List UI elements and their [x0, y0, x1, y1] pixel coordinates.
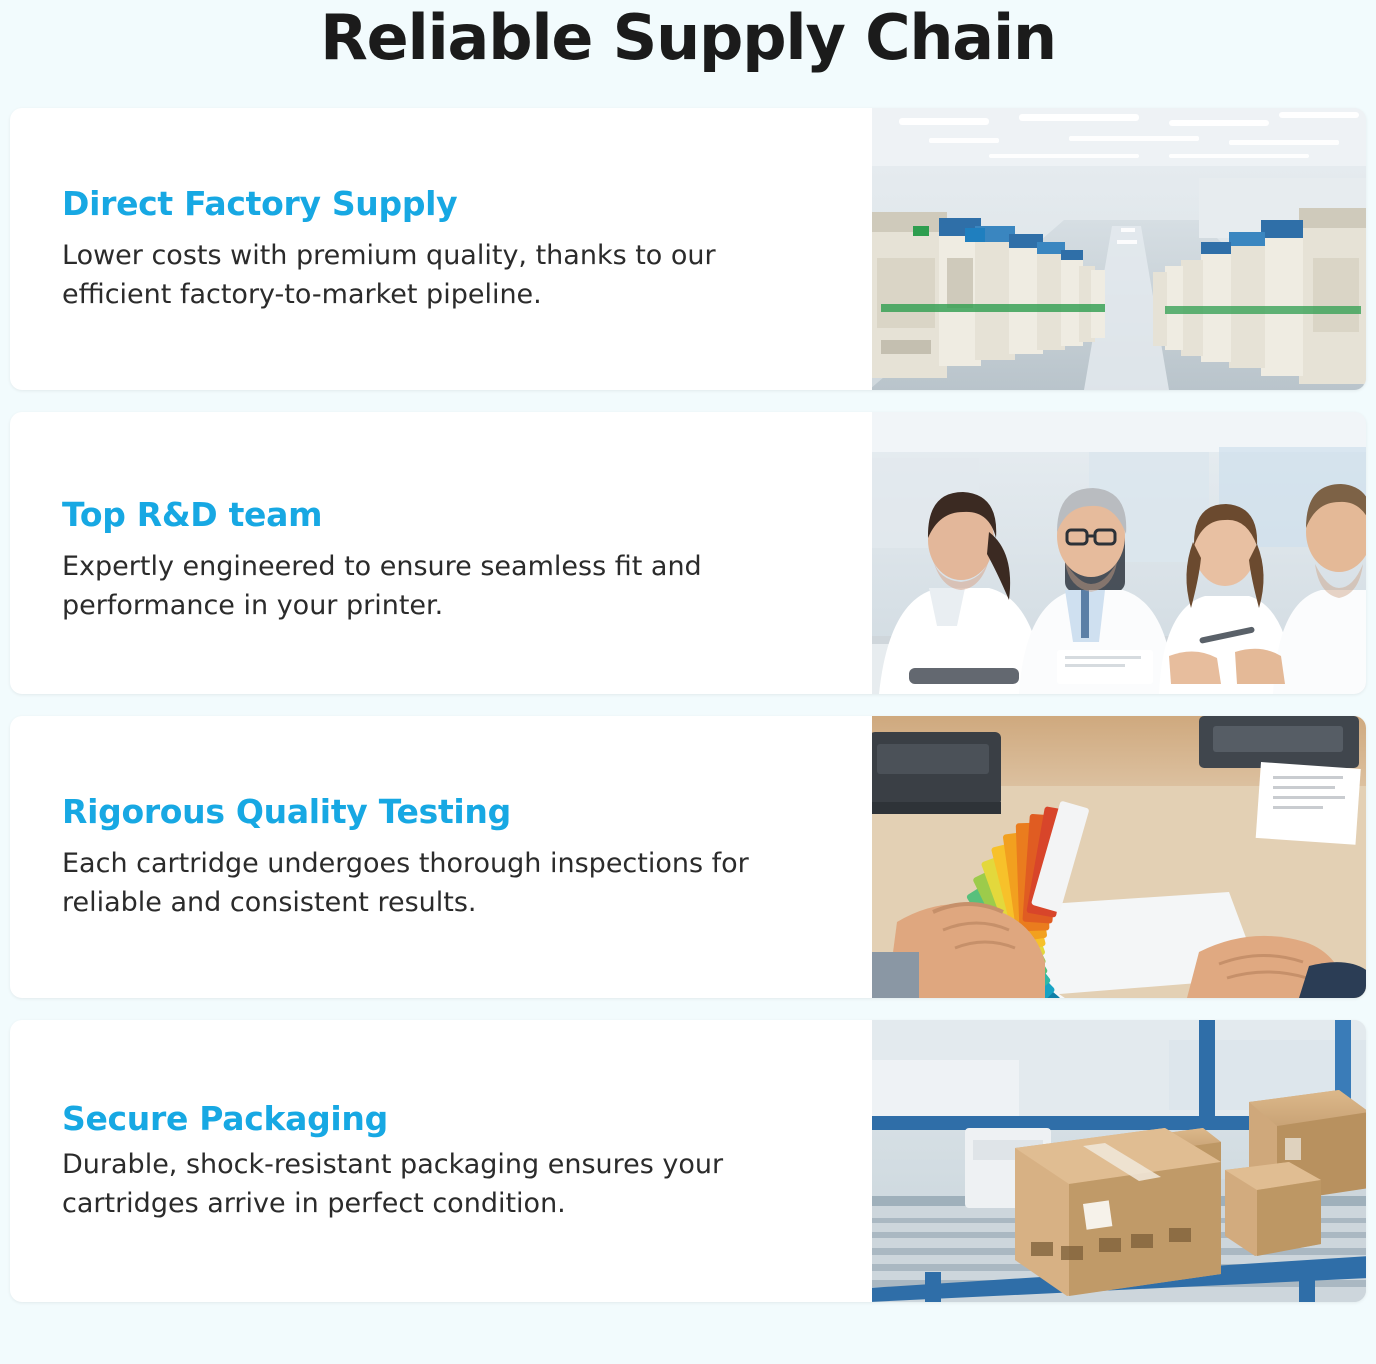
color-swatch-fan-inspection-photo	[872, 716, 1366, 998]
feature-card: Top R&D team Expertly engineered to ensu…	[10, 412, 1366, 694]
feature-card-text: Secure Packaging Durable, shock-resistan…	[10, 1020, 872, 1302]
feature-card-text: Top R&D team Expertly engineered to ensu…	[10, 412, 872, 694]
feature-card-description: Durable, shock-resistant packaging ensur…	[62, 1146, 802, 1223]
feature-card: Direct Factory Supply Lower costs with p…	[10, 108, 1366, 390]
feature-card-description: Lower costs with premium quality, thanks…	[62, 237, 802, 314]
feature-card-title: Rigorous Quality Testing	[62, 792, 820, 831]
feature-card: Rigorous Quality Testing Each cartridge …	[10, 716, 1366, 998]
cardboard-boxes-on-conveyor-photo	[872, 1020, 1366, 1302]
feature-card-description: Expertly engineered to ensure seamless f…	[62, 548, 802, 625]
page-title: Reliable Supply Chain	[0, 0, 1376, 72]
feature-card-title: Direct Factory Supply	[62, 184, 820, 223]
factory-production-line-photo	[872, 108, 1366, 390]
feature-card-title: Secure Packaging	[62, 1099, 820, 1138]
feature-card-text: Direct Factory Supply Lower costs with p…	[10, 108, 872, 390]
research-team-in-lab-coats-photo	[872, 412, 1366, 694]
feature-card-list: Direct Factory Supply Lower costs with p…	[0, 108, 1376, 1302]
feature-card-text: Rigorous Quality Testing Each cartridge …	[10, 716, 872, 998]
feature-card-title: Top R&D team	[62, 495, 820, 534]
feature-card-description: Each cartridge undergoes thorough inspec…	[62, 845, 802, 922]
feature-page: Reliable Supply Chain Direct Factory Sup…	[0, 0, 1376, 1364]
feature-card: Secure Packaging Durable, shock-resistan…	[10, 1020, 1366, 1302]
